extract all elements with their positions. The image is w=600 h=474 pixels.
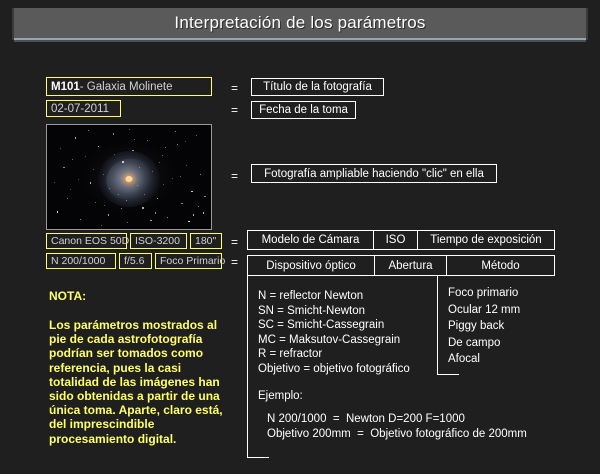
label-title-of-photo-text: Título de la fotografía — [263, 81, 372, 93]
equals-sign-date: = — [231, 104, 238, 116]
table-bottom-left-stub — [247, 457, 269, 458]
galaxy-photo[interactable] — [46, 124, 212, 230]
header-optical-device: Dispositivo óptico — [247, 255, 375, 276]
header-exposure-time-text: Tiempo de exposición — [430, 234, 541, 246]
header-method-text: Método — [481, 260, 519, 272]
iso-value: ISO-3200 — [135, 235, 180, 247]
aperture-field[interactable]: f/5.6 — [119, 253, 152, 269]
example-title: Ejemplo: — [258, 390, 303, 402]
optics-legend: N = reflector Newton SN = Smicht-Newton … — [258, 289, 410, 377]
table-column-divider — [437, 276, 438, 375]
header-aperture-text: Abertura — [388, 260, 432, 272]
camera-model-field[interactable]: Canon EOS 50D — [46, 233, 127, 249]
note-heading: NOTA: — [49, 289, 86, 303]
header-aperture: Abertura — [374, 255, 447, 276]
exposure-value: 180" — [195, 235, 216, 247]
photo-date-value: 02-07-2011 — [51, 103, 109, 115]
note-text: Los parámetros mostrados al pie de cada … — [49, 318, 227, 446]
header-method: Método — [446, 255, 555, 276]
photo-title-bold: M101 — [51, 81, 80, 93]
header-camera-model: Modelo de Cámara — [247, 230, 374, 250]
label-date-of-shot: Fecha de la toma — [251, 101, 356, 119]
equals-sign-title: = — [231, 82, 238, 94]
label-clickable-photo: Fotografía ampliable haciendo "clic" en … — [251, 164, 497, 183]
method-value: Foco Primario — [160, 255, 225, 267]
camera-model-value: Canon EOS 50D — [51, 235, 129, 247]
aperture-value: f/5.6 — [124, 255, 144, 267]
example-body: N 200/1000 = Newton D=200 F=1000 Objetiv… — [267, 412, 527, 442]
equals-sign-row1: = — [231, 236, 238, 248]
table-divider-bottom-stub — [437, 374, 459, 375]
photo-title-field[interactable]: M101 - Galaxia Molinete — [46, 77, 212, 96]
equals-sign-row2: = — [231, 256, 238, 268]
label-date-of-shot-text: Fecha de la toma — [259, 104, 348, 116]
label-clickable-photo-text: Fotografía ampliable haciendo "clic" en … — [264, 168, 484, 180]
label-title-of-photo: Título de la fotografía — [251, 78, 384, 96]
optical-device-value: N 200/1000 — [51, 255, 105, 267]
table-left-border — [247, 255, 248, 458]
photo-galaxy-core — [126, 176, 133, 182]
iso-field[interactable]: ISO-3200 — [130, 233, 187, 249]
header-exposure-time: Tiempo de exposición — [417, 230, 555, 250]
photo-date-field[interactable]: 02-07-2011 — [46, 100, 121, 117]
page-root: Interpretación de los parámetros M101 - … — [0, 0, 600, 474]
optical-device-field[interactable]: N 200/1000 — [46, 253, 116, 269]
method-legend: Foco primario Ocular 12 mm Piggy back De… — [448, 285, 520, 368]
method-field[interactable]: Foco Primario — [155, 253, 222, 269]
titlebar-right-edge — [586, 8, 588, 40]
exposure-field[interactable]: 180" — [190, 233, 222, 249]
header-camera-model-text: Modelo de Cámara — [262, 234, 360, 246]
header-optical-device-text: Dispositivo óptico — [266, 260, 355, 272]
titlebar: Interpretación de los parámetros — [14, 8, 586, 38]
header-iso-text: ISO — [386, 234, 406, 246]
header-iso: ISO — [373, 230, 418, 250]
photo-title-rest: - Galaxia Molinete — [80, 81, 173, 93]
titlebar-shadow-line — [14, 40, 586, 42]
equals-sign-photo: = — [231, 170, 238, 182]
page-title: Interpretación de los parámetros — [174, 13, 425, 33]
